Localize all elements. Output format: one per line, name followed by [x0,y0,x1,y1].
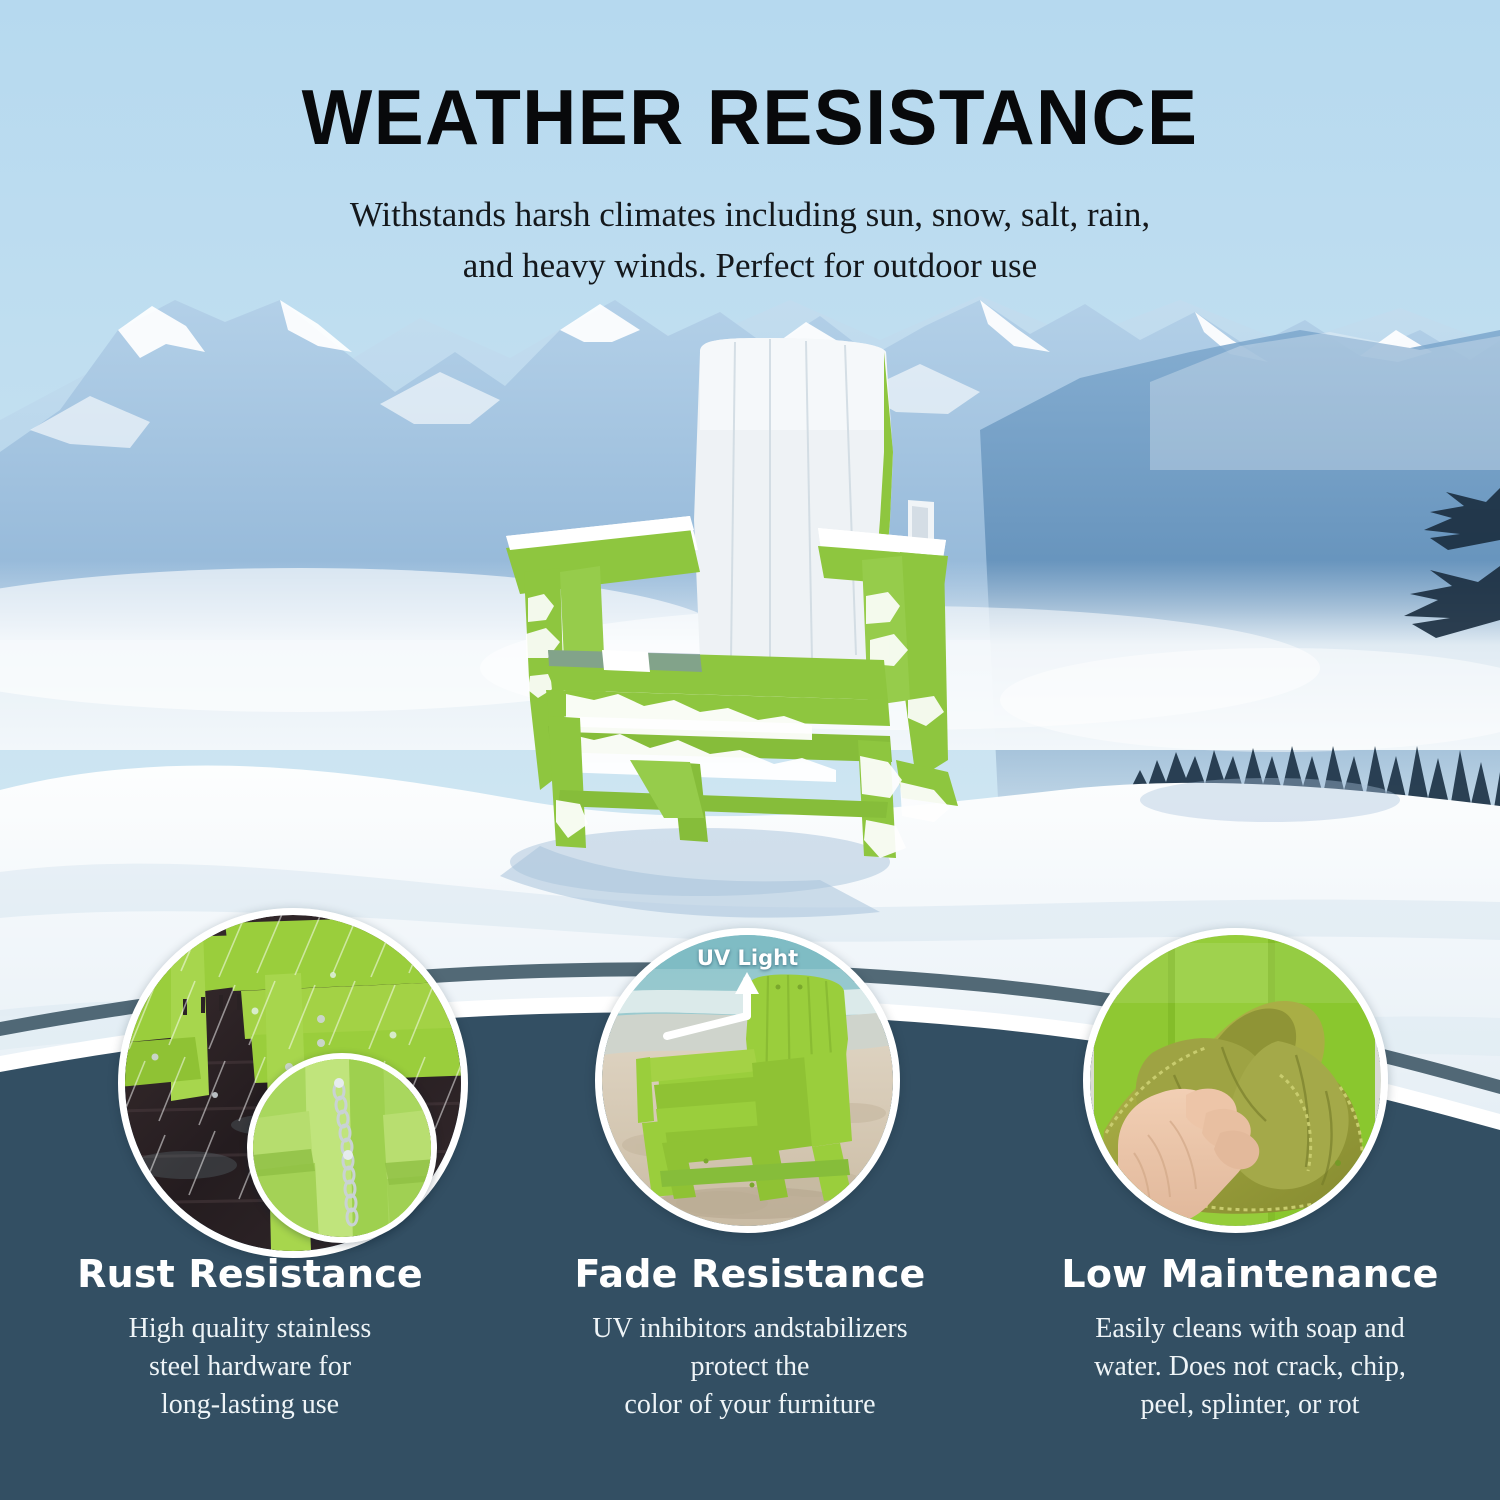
feature-body-line: peel, splinter, or rot [1026,1386,1474,1424]
feature-body-line: long-lasting use [26,1386,474,1424]
feature-column-fade-resistance: Fade Resistance UV inhibitors andstabili… [500,1255,1000,1424]
feature-body-line: protect the [526,1348,974,1386]
feature-body-rust-resistance: High quality stainless steel hardware fo… [26,1310,474,1424]
subtitle-line-1: Withstands harsh climates including sun,… [0,190,1500,241]
feature-image-fade-resistance [595,928,900,1233]
feature-caption-row: Rust Resistance High quality stainless s… [0,1255,1500,1424]
feature-body-fade-resistance: UV inhibitors andstabilizers protect the… [526,1310,974,1424]
feature-body-line: color of your furniture [526,1386,974,1424]
feature-image-rust-chain-inset [247,1053,437,1243]
feature-body-line: Easily cleans with soap and [1026,1310,1474,1348]
subtitle-line-2: and heavy winds. Perfect for outdoor use [0,241,1500,292]
page-title: WEATHER RESISTANCE [30,78,1470,156]
feature-body-line: UV inhibitors andstabilizers [526,1310,974,1348]
feature-image-low-maintenance [1083,928,1388,1233]
feature-title-low-maintenance: Low Maintenance [1026,1255,1474,1293]
feature-body-line: water. Does not crack, chip, [1026,1348,1474,1386]
feature-body-line: steel hardware for [26,1348,474,1386]
header-block: WEATHER RESISTANCE Withstands harsh clim… [0,0,1500,292]
feature-title-fade-resistance: Fade Resistance [526,1255,974,1293]
feature-column-low-maintenance: Low Maintenance Easily cleans with soap … [1000,1255,1500,1424]
page-subtitle: Withstands harsh climates including sun,… [0,190,1500,292]
feature-column-rust-resistance: Rust Resistance High quality stainless s… [0,1255,500,1424]
infographic-canvas: WEATHER RESISTANCE Withstands harsh clim… [0,0,1500,1500]
feature-body-low-maintenance: Easily cleans with soap and water. Does … [1026,1310,1474,1424]
feature-title-rust-resistance: Rust Resistance [26,1255,474,1293]
feature-body-line: High quality stainless [26,1310,474,1348]
